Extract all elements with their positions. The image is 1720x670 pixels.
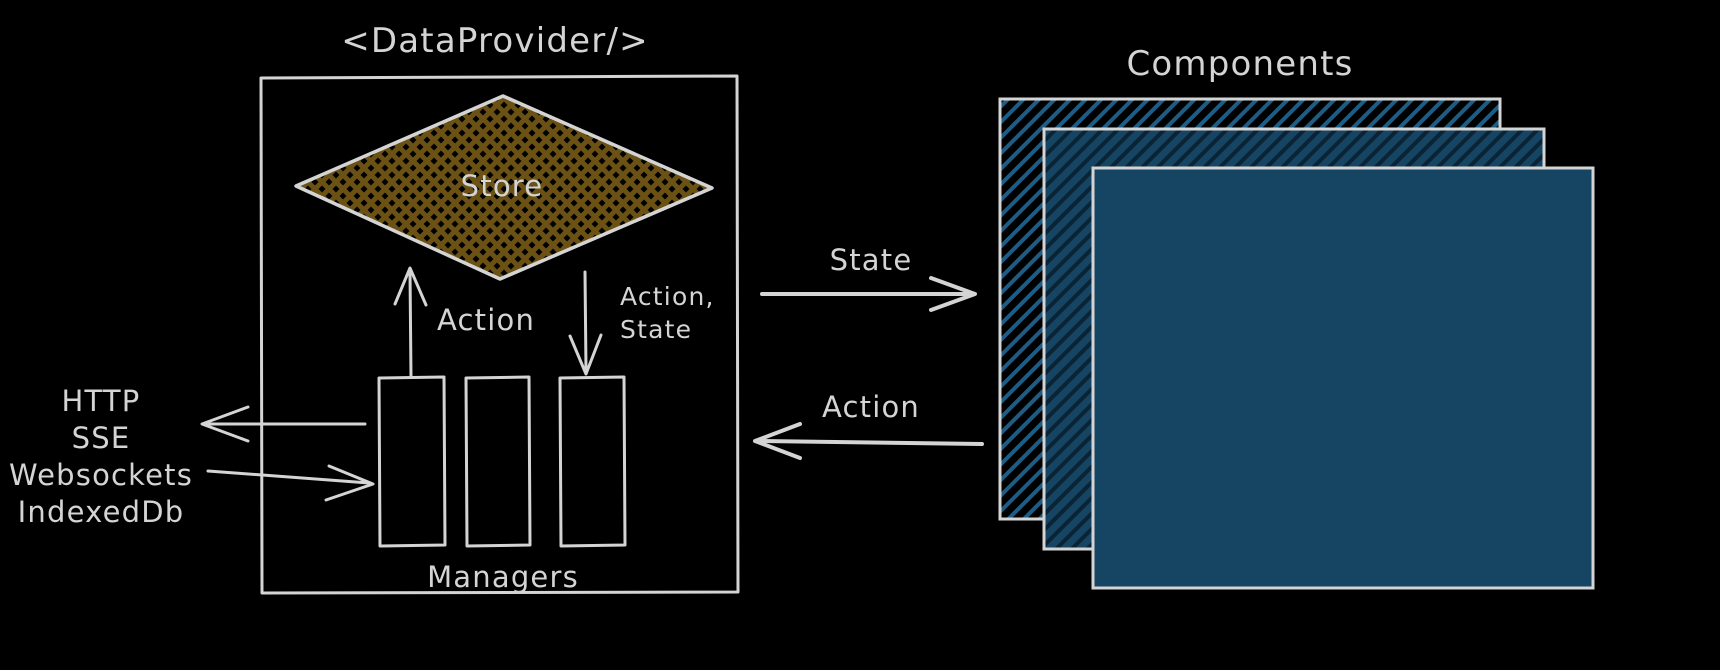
- store-inbound-label: Action: [437, 303, 535, 337]
- state-flow-label: State: [830, 243, 913, 277]
- store-outbound-label-line2: State: [620, 315, 692, 344]
- store-label: Store: [461, 169, 544, 203]
- transport-item-sse: SSE: [72, 421, 131, 455]
- transport-item-indexeddb: IndexedDb: [18, 495, 185, 529]
- transport-item-http: HTTP: [61, 384, 140, 418]
- transport-item-websockets: Websockets: [9, 458, 193, 492]
- components-title: Components: [1126, 44, 1353, 84]
- store-outbound-label-line1: Action,: [620, 282, 715, 311]
- provider-title: <DataProvider/>: [341, 21, 649, 61]
- managers-label: Managers: [427, 560, 579, 594]
- diagram-canvas: <DataProvider/> Store Action Action, Sta…: [0, 0, 1720, 670]
- diagram-labels: <DataProvider/> Store Action Action, Sta…: [0, 0, 1720, 670]
- action-flow-label: Action: [822, 390, 920, 424]
